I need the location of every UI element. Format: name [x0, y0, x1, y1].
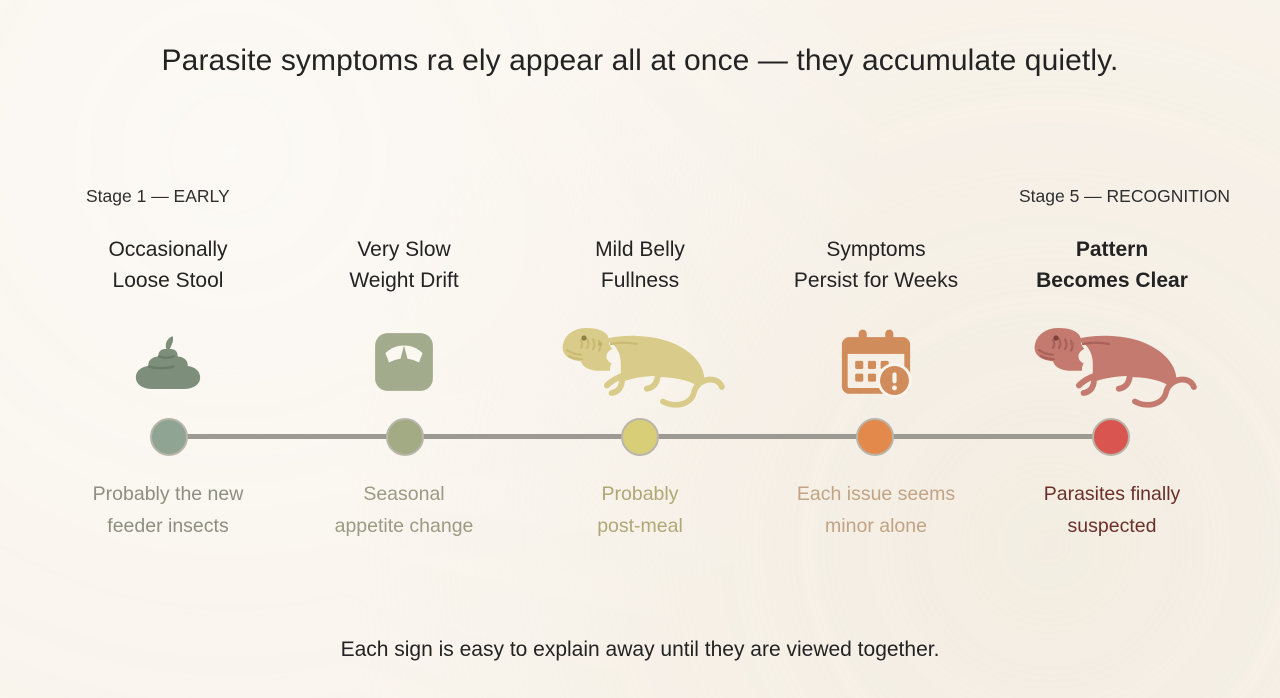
timeline-dot-3[interactable] — [621, 418, 659, 456]
stage-column-1[interactable]: Occasionally Loose Stool Probably the ne… — [50, 0, 286, 698]
stage-icon-3 — [545, 312, 735, 412]
stage-caption-4: Each issue seems minor alone — [751, 478, 1001, 542]
stage-column-2[interactable]: Very Slow Weight Drift Seasonal appetite… — [286, 0, 522, 698]
weight-scale-icon — [371, 329, 437, 395]
stage-caption-2: Seasonal appetite change — [279, 478, 529, 542]
footer-note: Each sign is easy to explain away until … — [0, 638, 1280, 662]
stage-heading-1: Occasionally Loose Stool — [42, 234, 294, 296]
stool-icon — [132, 326, 204, 398]
stage-columns: Occasionally Loose Stool Probably the ne… — [50, 0, 1230, 698]
stage-heading-4: Symptoms Persist for Weeks — [750, 234, 1002, 296]
stage-icon-1 — [73, 312, 263, 412]
timeline-dot-5[interactable] — [1092, 418, 1130, 456]
timeline-dot-4[interactable] — [856, 418, 894, 456]
timeline-dot-1[interactable] — [150, 418, 188, 456]
infographic-stage: Parasite symptoms ra ely appear all at o… — [0, 0, 1280, 698]
stage-heading-2: Very Slow Weight Drift — [278, 234, 530, 296]
calendar-alert-icon — [839, 325, 913, 399]
stage-icon-2 — [309, 312, 499, 412]
stage-column-4[interactable]: Symptoms Persist for Weeks — [758, 0, 994, 698]
stage-caption-5: Parasites finally suspected — [987, 478, 1237, 542]
stage-caption-3: Probably post-meal — [515, 478, 765, 542]
stage-icon-5 — [1017, 312, 1207, 412]
bearded-dragon-red-icon — [1025, 314, 1200, 410]
stage-column-3[interactable]: Mild Belly Fullness Probably post-meal — [522, 0, 758, 698]
bearded-dragon-icon — [553, 316, 728, 408]
stage-heading-3: Mild Belly Fullness — [514, 234, 766, 296]
stage-icon-4 — [781, 312, 971, 412]
stage-heading-5: Pattern Becomes Clear — [986, 234, 1238, 296]
stage-column-5[interactable]: Pattern Becomes Clear Parasites finally … — [994, 0, 1230, 698]
stage-caption-1: Probably the new feeder insects — [43, 478, 293, 542]
timeline-dot-2[interactable] — [386, 418, 424, 456]
